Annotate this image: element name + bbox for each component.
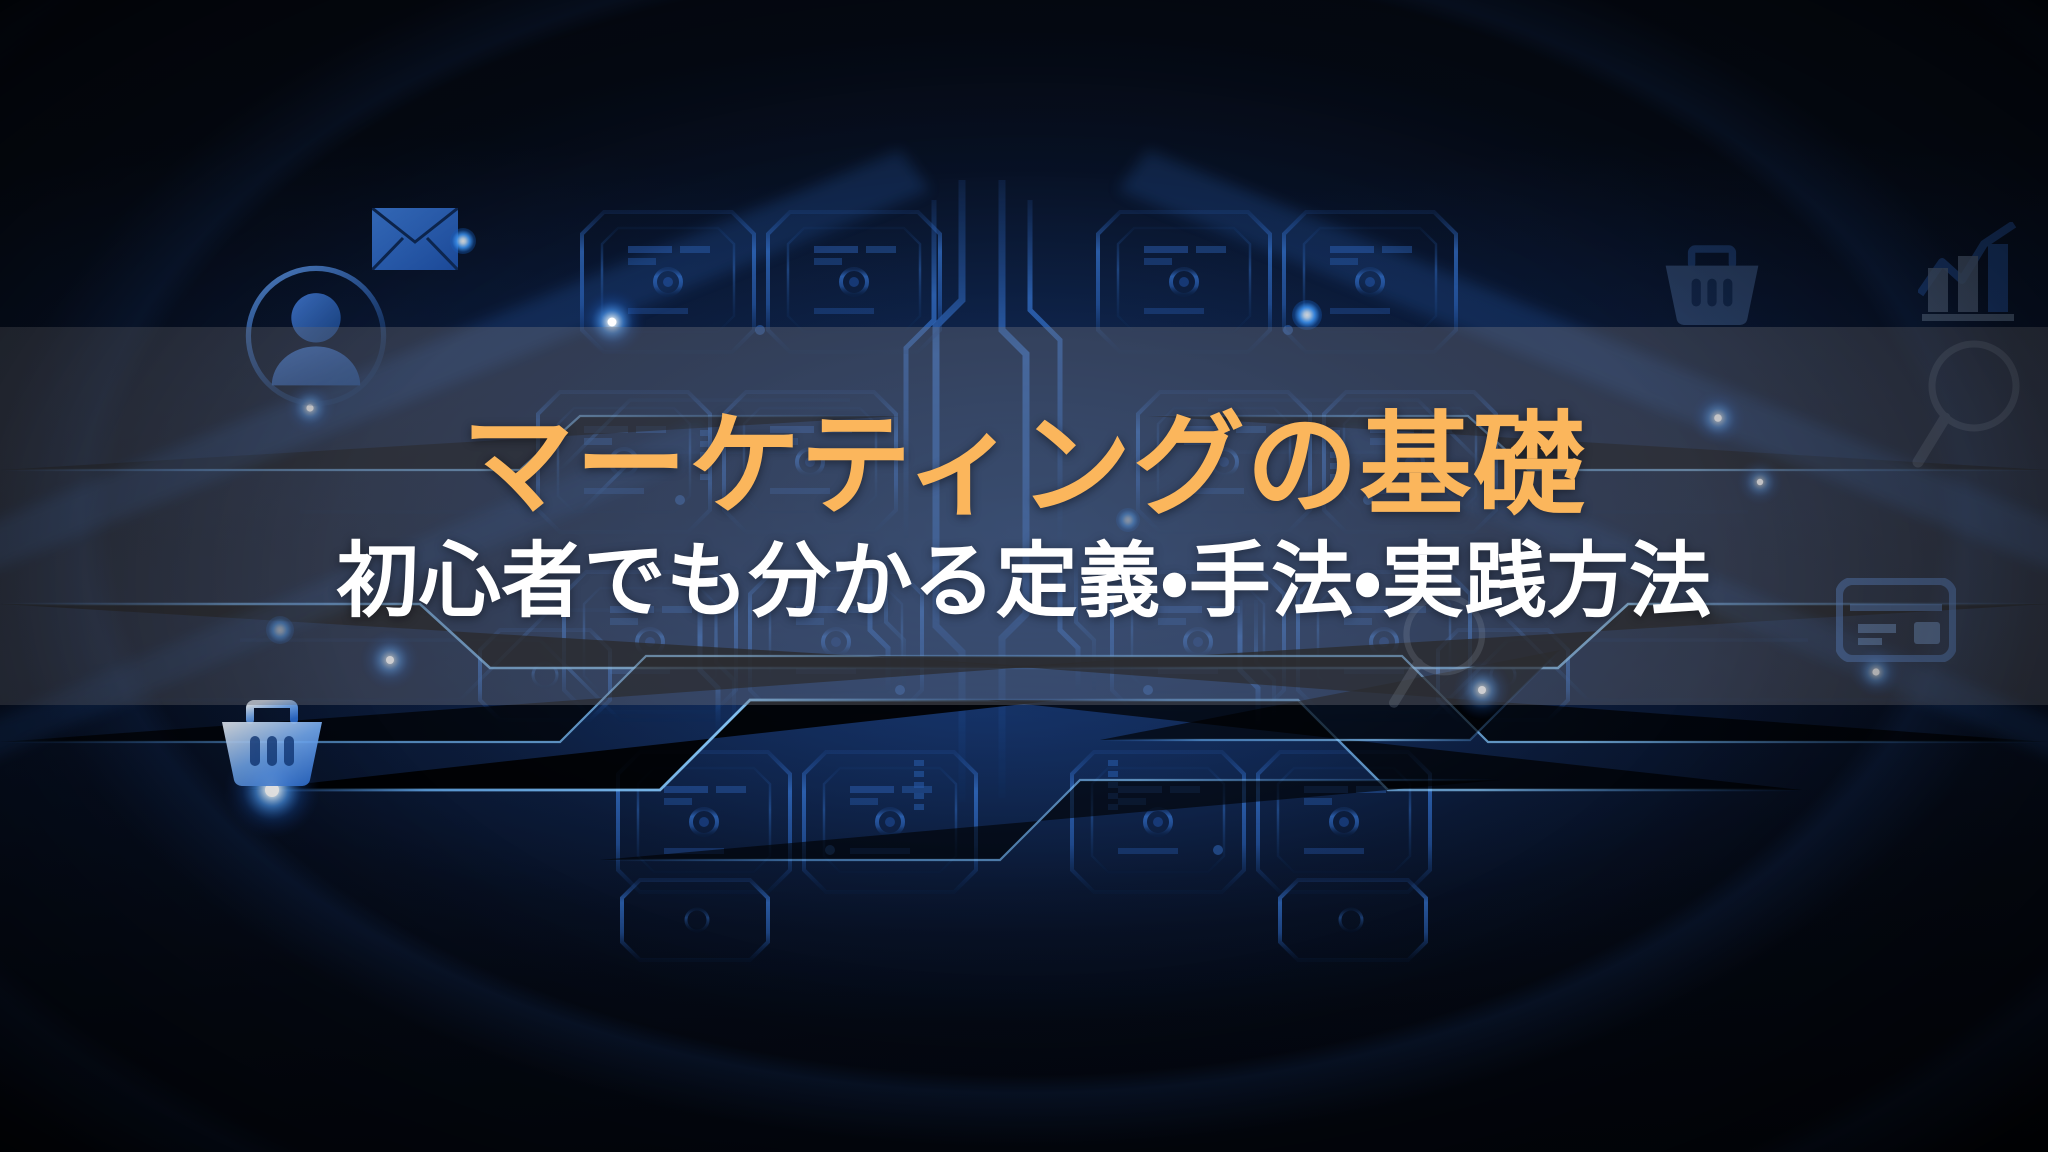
shopping-basket-icon-secondary [1660, 236, 1764, 338]
bar-chart-trend-icon [1918, 222, 2038, 332]
page-subtitle: 初心者でも分かる定義・手法・実践方法 [336, 535, 1711, 629]
glow-dot [1292, 300, 1322, 330]
page-title: マーケティングの基礎 [462, 403, 1586, 528]
hero-text-block: マーケティングの基礎 初心者でも分かる定義・手法・実践方法 [0, 327, 2048, 705]
shopping-basket-icon [216, 690, 328, 800]
hero-banner: マーケティングの基礎 初心者でも分かる定義・手法・実践方法 [0, 0, 2048, 1152]
envelope-icon [372, 208, 458, 270]
